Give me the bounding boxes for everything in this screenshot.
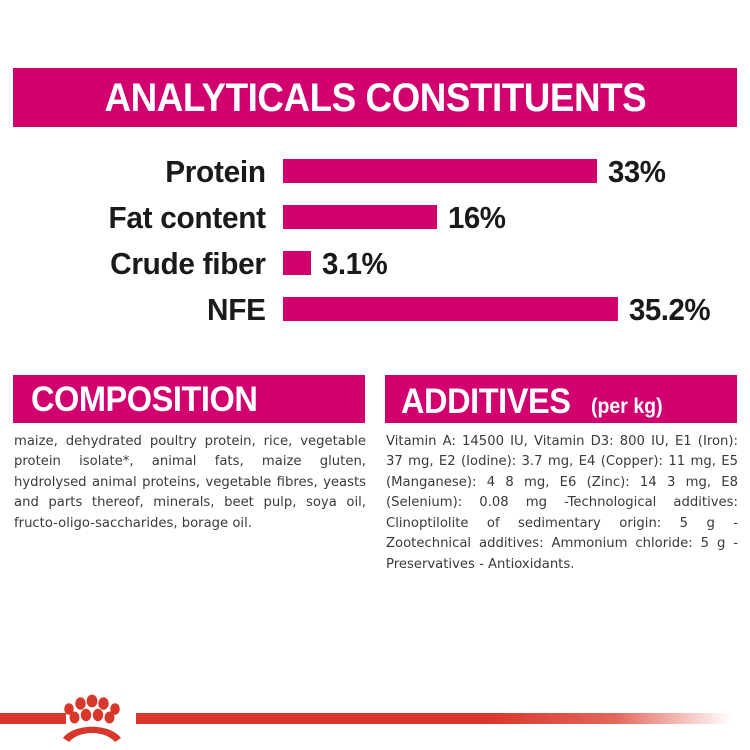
chart-bar-wrap-fat-content: 16% bbox=[283, 202, 750, 233]
additives-subtitle: (per kg) bbox=[591, 395, 663, 419]
composition-body: maize, dehydrated poultry protein, rice,… bbox=[14, 432, 366, 534]
chart-value-nfe: 35.2% bbox=[629, 294, 710, 325]
footer-rule-right bbox=[136, 713, 750, 724]
footer bbox=[0, 700, 750, 750]
royal-canin-crown-icon bbox=[54, 694, 130, 748]
chart-label-protein: Protein bbox=[11, 156, 283, 187]
chart-label-crude-fiber: Crude fiber bbox=[11, 248, 283, 279]
composition-header: COMPOSITION bbox=[13, 375, 365, 423]
chart-bar-fat-content bbox=[283, 205, 437, 229]
additives-header: ADDITIVES (per kg) bbox=[385, 375, 737, 423]
chart-row-nfe: NFE 35.2% bbox=[0, 286, 750, 332]
chart-value-crude-fiber: 3.1% bbox=[322, 248, 387, 279]
chart-row-fat-content: Fat content 16% bbox=[0, 194, 750, 240]
page-title: ANALYTICALS CONSTITUENTS bbox=[104, 78, 646, 118]
analytical-constituents-chart: Protein 33% Fat content 16% Crude fiber … bbox=[0, 148, 750, 338]
chart-row-protein: Protein 33% bbox=[0, 148, 750, 194]
analytical-constituents-header: ANALYTICALS CONSTITUENTS bbox=[13, 68, 737, 127]
additives-title: ADDITIVES bbox=[401, 384, 570, 419]
chart-value-protein: 33% bbox=[608, 156, 666, 187]
additives-body: Vitamin A: 14500 IU, Vitamin D3: 800 IU,… bbox=[386, 432, 738, 575]
chart-bar-nfe bbox=[283, 297, 618, 321]
chart-bar-wrap-crude-fiber: 3.1% bbox=[283, 248, 750, 279]
chart-row-crude-fiber: Crude fiber 3.1% bbox=[0, 240, 750, 286]
chart-label-nfe: NFE bbox=[11, 294, 283, 325]
chart-bar-wrap-nfe: 35.2% bbox=[283, 294, 750, 325]
chart-bar-wrap-protein: 33% bbox=[283, 156, 750, 187]
chart-bar-protein bbox=[283, 159, 597, 183]
chart-label-fat-content: Fat content bbox=[11, 202, 283, 233]
chart-bar-crude-fiber bbox=[283, 251, 311, 275]
chart-value-fat-content: 16% bbox=[448, 202, 506, 233]
composition-title: COMPOSITION bbox=[31, 382, 257, 417]
nutrition-panel: ANALYTICALS CONSTITUENTS Protein 33% Fat… bbox=[0, 0, 750, 750]
